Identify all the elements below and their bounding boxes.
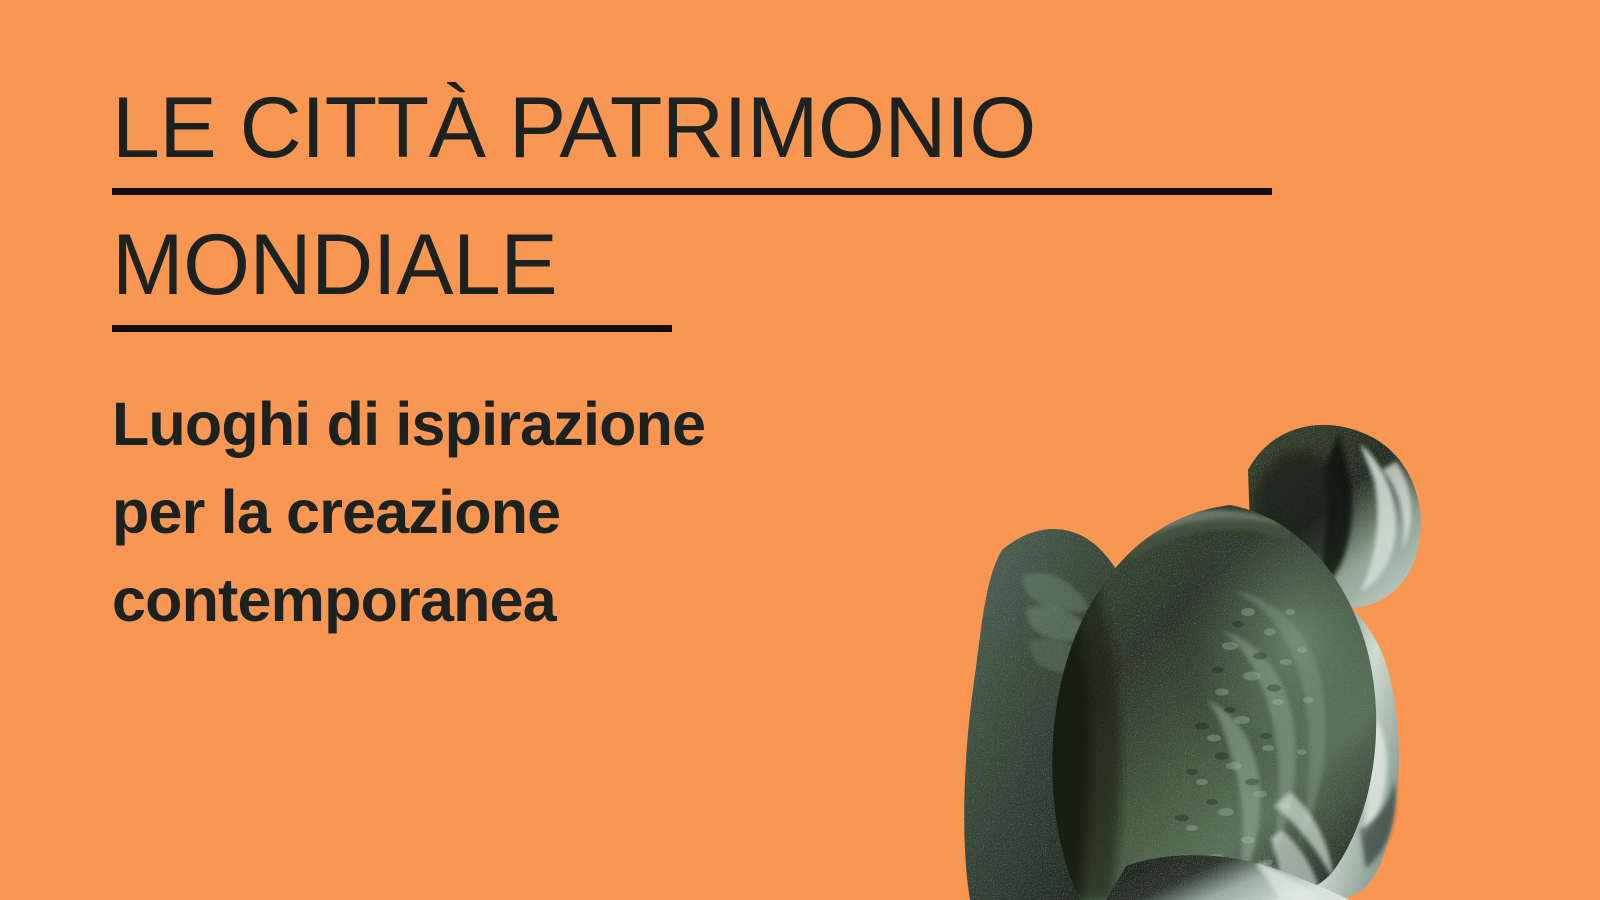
subtitle-line-3: contemporanea bbox=[112, 556, 1312, 644]
title-line-1: LE CITTÀ PATRIMONIO bbox=[112, 74, 1312, 195]
subtitle-line-1: Luoghi di ispirazione bbox=[112, 380, 1312, 468]
page-title-line-2: MONDIALE bbox=[112, 211, 1312, 319]
title-underline-2 bbox=[112, 325, 672, 332]
subtitle-line-2: per la creazione bbox=[112, 468, 1312, 556]
subtitle: Luoghi di ispirazione per la creazione c… bbox=[112, 380, 1312, 644]
poster-canvas: LE CITTÀ PATRIMONIO MONDIALE Luoghi di i… bbox=[0, 0, 1600, 900]
title-underline-1 bbox=[112, 188, 1272, 195]
title-line-2: MONDIALE bbox=[112, 211, 1312, 332]
text-block: LE CITTÀ PATRIMONIO MONDIALE Luoghi di i… bbox=[112, 74, 1312, 644]
page-title-line-1: LE CITTÀ PATRIMONIO bbox=[112, 74, 1312, 182]
